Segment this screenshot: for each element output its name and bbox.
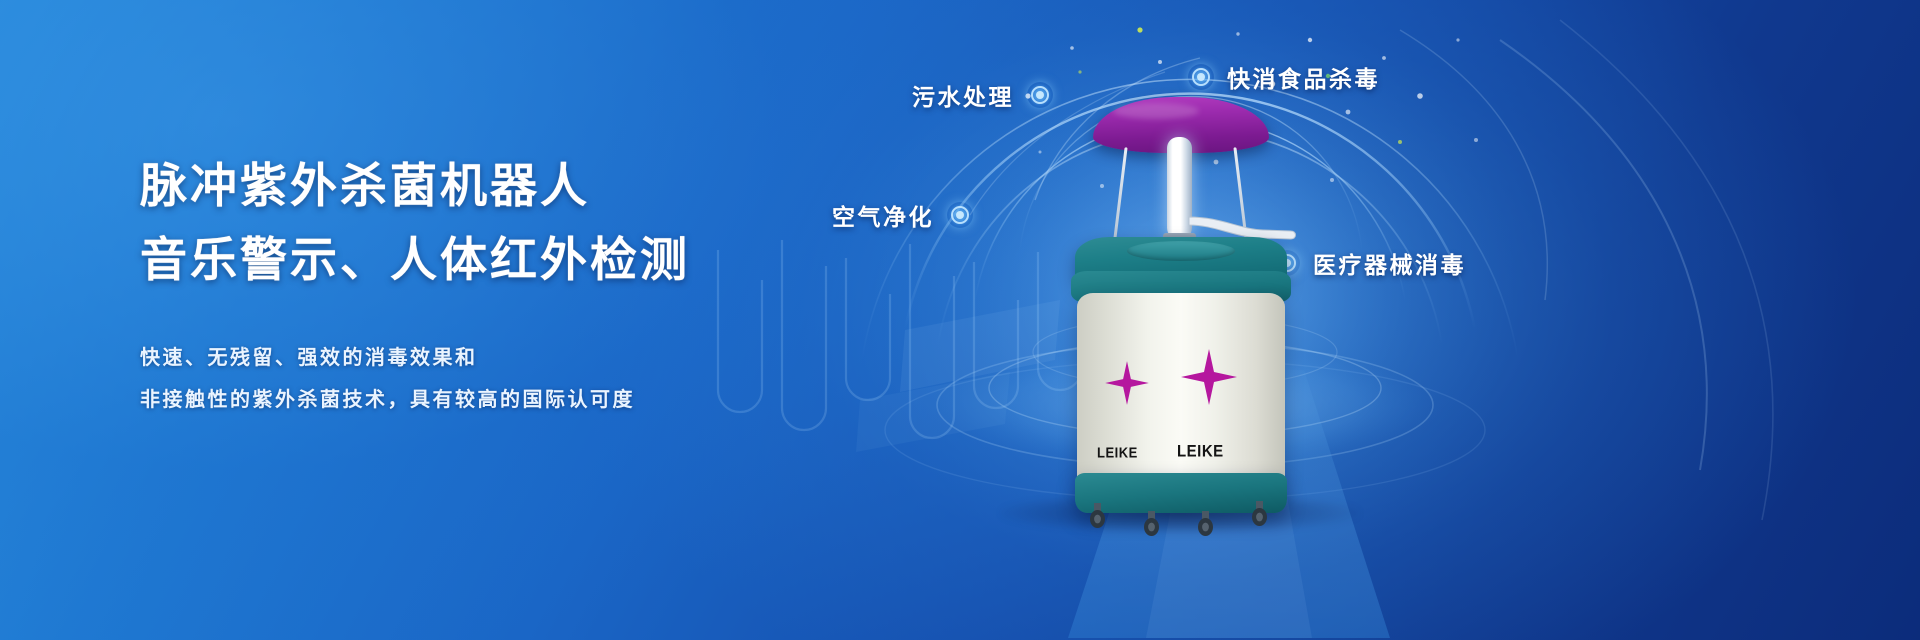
four-point-star-icon	[1181, 349, 1237, 405]
caster-wheel-icon	[1089, 503, 1106, 529]
feature-label-text: 空气净化	[832, 198, 934, 232]
caster-wheel-icon	[1143, 511, 1160, 537]
body-line-1: 快速、无残留、强效的消毒效果和	[140, 336, 860, 378]
caster-wheel-icon	[1251, 501, 1268, 527]
copy-block: 脉冲紫外杀菌机器人 音乐警示、人体红外检测 快速、无残留、强效的消毒效果和 非接…	[140, 150, 860, 420]
brand-label-right: LEIKE	[1177, 442, 1224, 461]
ring-marker-icon	[947, 202, 973, 228]
feature-label-food-sterilization: 快消食品杀毒	[1188, 60, 1380, 94]
ring-marker-icon	[1188, 64, 1214, 90]
feature-label-wastewater: 污水处理	[912, 78, 1053, 112]
caster-wheel-icon	[1197, 511, 1214, 537]
headline-line-2: 音乐警示、人体红外检测	[140, 224, 860, 298]
feature-label-text: 快消食品杀毒	[1227, 60, 1380, 94]
dome-strut-left	[1113, 147, 1127, 239]
feature-label-text: 污水处理	[912, 78, 1014, 112]
body-line-2: 非接触性的紫外杀菌技术，具有较高的国际认可度	[140, 378, 860, 420]
headline-line-1: 脉冲紫外杀菌机器人	[140, 150, 860, 224]
promo-banner: 脉冲紫外杀菌机器人 音乐警示、人体红外检测 快速、无残留、强效的消毒效果和 非接…	[0, 0, 1920, 640]
brand-label-left: LEIKE	[1097, 444, 1138, 461]
feature-label-text: 医疗器械消毒	[1313, 246, 1466, 280]
uv-disinfection-robot: LEIKE LEIKE	[1035, 95, 1325, 515]
subcopy-block: 快速、无残留、强效的消毒效果和 非接触性的紫外杀菌技术，具有较高的国际认可度	[140, 336, 860, 420]
device-front-panel: LEIKE LEIKE	[1077, 293, 1285, 483]
four-point-star-icon	[1105, 361, 1149, 405]
feature-label-air-purification: 空气净化	[832, 198, 973, 232]
